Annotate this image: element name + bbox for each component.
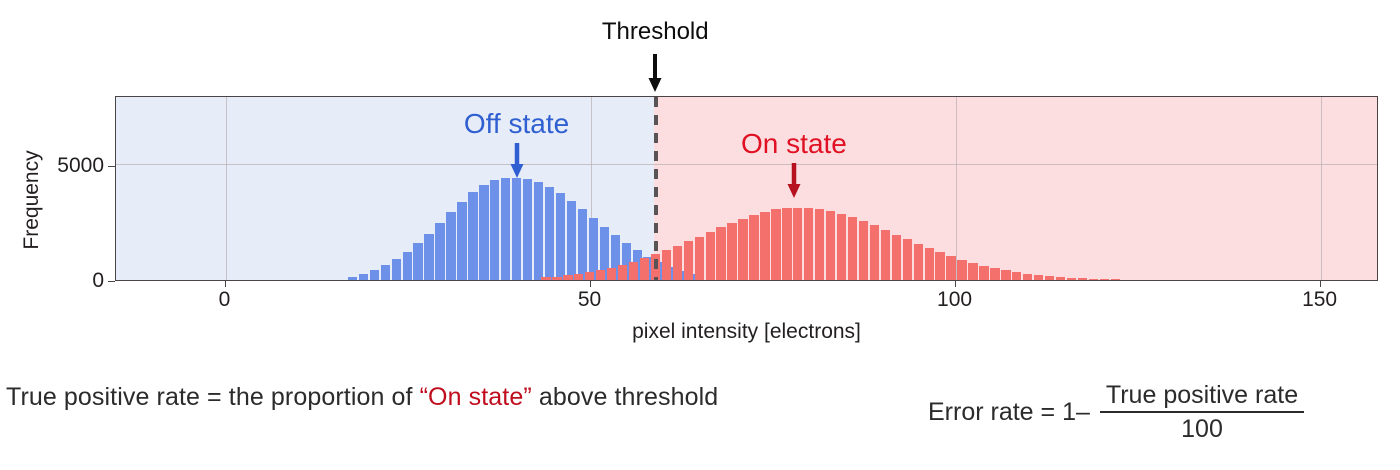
- y-axis-title: Frequency: [20, 140, 44, 260]
- histogram-bar: [673, 246, 682, 280]
- histogram-bar: [892, 235, 901, 281]
- histogram-bar: [618, 265, 627, 280]
- histogram-bar: [990, 268, 999, 280]
- histogram-bar: [848, 217, 857, 280]
- histogram-bar: [760, 212, 769, 280]
- histogram-bar: [1001, 270, 1010, 280]
- threshold-arrow-icon: [647, 54, 663, 94]
- tpr-text-part1: True positive rate = the proportion of: [6, 383, 420, 411]
- histogram-bar: [1056, 277, 1065, 280]
- threshold-line: [654, 97, 658, 280]
- histogram-bar: [826, 211, 835, 280]
- histogram-bar: [979, 266, 988, 280]
- histogram-bar: [935, 252, 944, 280]
- histogram-bar: [1067, 278, 1076, 280]
- error-rate-fraction: True positive rate 100: [1100, 381, 1304, 443]
- histogram-bar: [1100, 279, 1109, 280]
- histogram-bar: [925, 248, 934, 280]
- y-axis-tick-label: 0: [92, 269, 104, 293]
- x-axis-tick: [590, 281, 591, 287]
- tpr-text-part2: above threshold: [532, 383, 718, 411]
- x-axis-title: pixel intensity [electrons]: [115, 320, 1378, 344]
- histogram-bar: [1034, 275, 1043, 280]
- histogram-bar: [662, 250, 671, 280]
- y-axis-tick: [108, 166, 115, 167]
- histogram-bar: [706, 232, 715, 280]
- histogram-bar: [914, 244, 923, 280]
- x-axis-tick-label: 50: [578, 288, 601, 312]
- histogram-bar: [1023, 274, 1032, 280]
- off-state-label: Off state: [464, 108, 569, 140]
- histogram-bar: [596, 270, 605, 280]
- histogram-bar: [585, 272, 594, 280]
- histogram-bar: [815, 209, 824, 280]
- histogram-bar: [1089, 279, 1098, 280]
- histogram-bar: [903, 239, 912, 280]
- histogram-bar: [695, 237, 704, 280]
- plot-area: [115, 96, 1378, 281]
- histogram-bar: [793, 208, 802, 280]
- true-positive-rate-definition: True positive rate = the proportion of “…: [6, 383, 718, 412]
- histogram-bar: [552, 277, 561, 280]
- histogram-bar: [629, 262, 638, 280]
- histogram-bar: [1045, 276, 1054, 280]
- off-state-arrow-icon: [509, 143, 525, 180]
- histogram-bar: [716, 227, 725, 280]
- histogram-bar: [574, 274, 583, 280]
- on-state-arrow-icon: [786, 163, 802, 200]
- y-axis-tick-label: 5000: [57, 154, 104, 178]
- x-axis-tick-label: 100: [937, 288, 972, 312]
- y-axis-tick: [108, 281, 115, 282]
- histogram-bar: [859, 221, 868, 280]
- on-state-label: On state: [741, 128, 847, 160]
- histogram-bar: [563, 275, 572, 280]
- histogram-bar: [684, 241, 693, 280]
- histogram-bar: [640, 258, 649, 280]
- histogram-bar: [968, 263, 977, 280]
- figure-root: Frequency 05010015005000 pixel intensity…: [0, 0, 1400, 470]
- histogram-bar: [957, 260, 966, 280]
- tpr-on-state-quoted: “On state”: [420, 383, 532, 411]
- histogram-figure: Frequency 05010015005000 pixel intensity…: [0, 0, 1400, 355]
- histogram-bar: [1012, 272, 1021, 280]
- histogram-bar: [1111, 279, 1120, 280]
- fraction-numerator: True positive rate: [1100, 381, 1304, 411]
- error-rate-formula: Error rate = 1– True positive rate 100: [928, 381, 1304, 443]
- histogram-bar: [541, 277, 550, 280]
- x-axis-tick: [225, 281, 226, 287]
- on-state-bars: [116, 97, 1377, 280]
- histogram-bar: [870, 225, 879, 280]
- histogram-bar: [837, 214, 846, 280]
- x-axis-tick-label: 150: [1302, 288, 1337, 312]
- threshold-label: Threshold: [602, 18, 709, 46]
- histogram-bar: [738, 219, 747, 280]
- histogram-bar: [804, 208, 813, 280]
- histogram-bar: [749, 215, 758, 280]
- histogram-bar: [771, 209, 780, 280]
- fraction-denominator: 100: [1181, 413, 1223, 443]
- error-rate-lead: Error rate = 1–: [928, 398, 1100, 427]
- histogram-bar: [1078, 278, 1087, 280]
- histogram-bar: [727, 223, 736, 280]
- x-axis-tick: [955, 281, 956, 287]
- histogram-bar: [607, 268, 616, 280]
- histogram-bar: [881, 230, 890, 280]
- histogram-bar: [946, 256, 955, 280]
- caption-row: True positive rate = the proportion of “…: [0, 355, 1400, 470]
- x-axis-tick-label: 0: [219, 288, 231, 312]
- x-axis-tick: [1320, 281, 1321, 287]
- histogram-bar: [782, 208, 791, 280]
